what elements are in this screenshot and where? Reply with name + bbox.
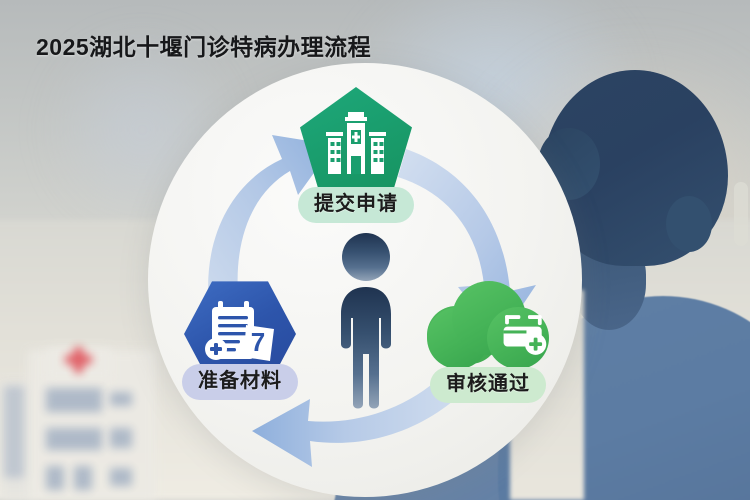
flow-node-prepare[interactable]: 7 准备材料: [184, 282, 296, 386]
pentagon-background: [300, 87, 412, 199]
building-window: [46, 466, 64, 490]
page-title: 2025湖北十堰门诊特病办理流程: [36, 28, 371, 62]
document-checklist-icon: 7: [202, 301, 278, 367]
flow-node-submit[interactable]: 提交申请: [300, 91, 412, 195]
building-side-panel: [4, 386, 24, 478]
building-window: [110, 392, 132, 406]
building-window: [110, 468, 132, 486]
node-label-approve: 审核通过: [430, 367, 546, 403]
document-badge-number: 7: [251, 327, 265, 357]
node-shape-pentagon: [300, 91, 412, 195]
building-window: [46, 428, 102, 450]
red-cross-icon: [65, 355, 92, 364]
medical-kit-icon: [499, 307, 549, 363]
person-figure-icon: [335, 232, 397, 410]
building-window: [110, 428, 132, 448]
flow-node-approve[interactable]: 审核通过: [427, 281, 549, 389]
building-window: [74, 466, 92, 490]
node-label-submit: 提交申请: [298, 187, 414, 223]
infographic-canvas: 提交申请 审核通过: [0, 0, 750, 500]
silhouette-edge-highlight: [734, 182, 748, 246]
building-window: [46, 388, 102, 412]
silhouette-ear: [666, 196, 712, 252]
node-label-prepare: 准备材料: [182, 364, 298, 400]
hospital-building-icon: [320, 112, 392, 174]
